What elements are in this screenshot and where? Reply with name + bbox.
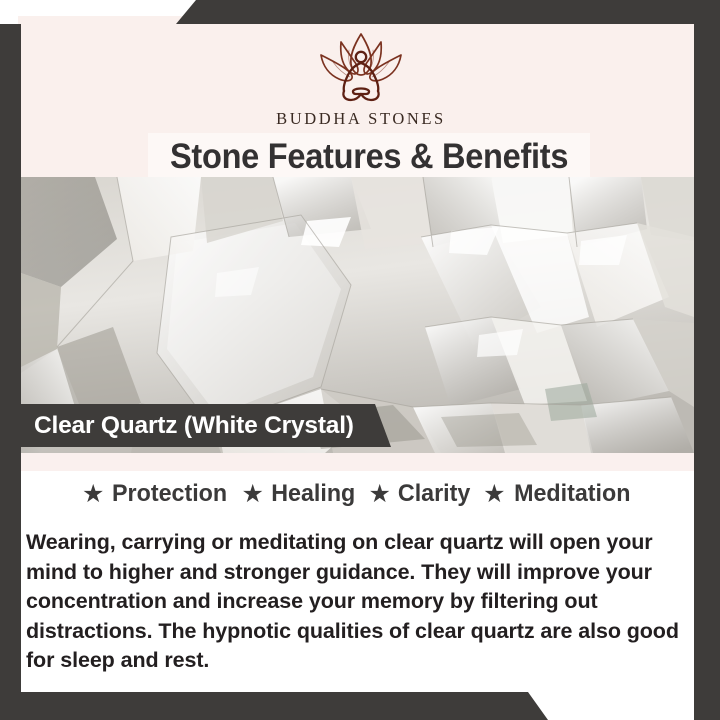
benefit-item-protection: ★ Protection: [82, 480, 231, 508]
benefit-item-clarity: ★ Clarity: [368, 480, 472, 508]
frame-left-bar: [0, 24, 21, 720]
header: BUDDHA STONES Stone Features & Benefits: [18, 16, 704, 180]
content-panel: ★ Protection ★ Healing ★ Clarity ★ Medit…: [21, 471, 694, 692]
photo-caption-banner: Clear Quartz (White Crystal): [21, 404, 391, 447]
benefits-row: ★ Protection ★ Healing ★ Clarity ★ Medit…: [21, 480, 694, 508]
frame-right-bar: [694, 0, 720, 720]
star-icon: ★: [368, 482, 390, 507]
benefit-label: Meditation: [514, 480, 630, 508]
frame-bottom-bar: [0, 692, 720, 720]
star-icon: ★: [82, 482, 104, 507]
content-accent-band: [21, 453, 694, 471]
photo-caption-text: Clear Quartz (White Crystal): [34, 412, 354, 440]
brand-name: BUDDHA STONES: [276, 109, 446, 129]
description-text: Wearing, carrying or meditating on clear…: [26, 528, 694, 676]
description-block: Wearing, carrying or meditating on clear…: [26, 528, 694, 676]
benefit-item-healing: ★ Healing: [242, 480, 358, 508]
lotus-meditation-icon: [285, 30, 437, 104]
stone-features-card: BUDDHA STONES Stone Features & Benefits: [0, 0, 720, 720]
benefit-label: Clarity: [398, 480, 470, 508]
star-icon: ★: [483, 482, 505, 507]
benefit-label: Protection: [112, 480, 227, 508]
title-band: Stone Features & Benefits: [148, 133, 590, 181]
benefit-item-meditation: ★ Meditation: [483, 480, 633, 508]
star-icon: ★: [242, 482, 264, 507]
brand-logo: BUDDHA STONES: [18, 30, 704, 129]
page-title: Stone Features & Benefits: [170, 137, 568, 177]
benefit-label: Healing: [271, 480, 355, 508]
